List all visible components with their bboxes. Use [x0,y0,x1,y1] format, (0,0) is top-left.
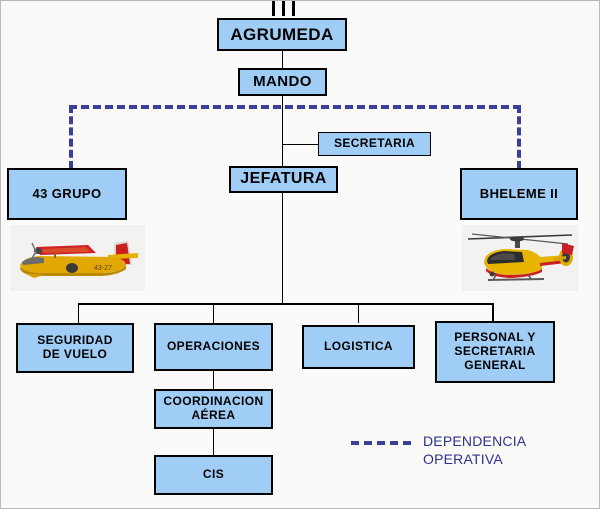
connector-operaciones-coordinacion [213,371,214,389]
node-agrumeda-label: AGRUMEDA [230,25,333,45]
node-cis-label: CIS [203,468,224,482]
node-bheleme-ii-label: BHELEME II [480,187,558,202]
helicopter-illustration [462,225,578,291]
connector-coordinacion-cis [213,429,214,455]
node-43-grupo-label: 43 GRUPO [33,187,102,202]
antenna-mark-1 [272,1,275,16]
seaplane-illustration: 43-27 [10,225,145,291]
legend-dashed-line-swatch [351,441,411,445]
node-secretaria[interactable]: SECRETARIA [318,132,431,156]
antenna-mark-3 [292,1,295,16]
node-jefatura-label: JEFATURA [240,170,326,188]
node-operaciones-label: OPERACIONES [167,340,260,354]
node-cis[interactable]: CIS [154,455,273,495]
node-jefatura[interactable]: JEFATURA [229,166,338,193]
connector-agrumeda-mando [282,50,283,68]
connector-bus-to-logistica [358,303,359,323]
legend: DEPENDENCIA OPERATIVA [351,433,526,468]
node-seguridad-de-vuelo-label: SEGURIDAD DE VUELO [37,334,113,362]
node-logistica-label: LOGISTICA [324,340,393,354]
node-logistica[interactable]: LOGISTICA [302,325,415,369]
dashed-link-horizontal [69,105,521,109]
node-agrumeda[interactable]: AGRUMEDA [217,18,347,51]
antenna-mark-2 [282,1,285,16]
node-coordinacion-aerea-label: COORDINACION AÉREA [163,395,263,423]
connector-bus-to-personal [492,303,494,323]
legend-label: DEPENDENCIA OPERATIVA [423,433,526,468]
connector-bus-horizontal [78,303,494,305]
node-coordinacion-aerea[interactable]: COORDINACION AÉREA [154,389,273,429]
node-mando[interactable]: MANDO [238,68,327,96]
node-mando-label: MANDO [253,73,312,90]
node-secretaria-label: SECRETARIA [334,137,415,151]
canadair-seaplane-photo: 43-27 [10,225,145,291]
node-43-grupo[interactable]: 43 GRUPO [7,168,127,220]
node-seguridad-de-vuelo[interactable]: SEGURIDAD DE VUELO [16,323,134,373]
connector-jefatura-bus [282,193,283,304]
connector-jefatura-secretaria [282,144,318,145]
connector-bus-to-operaciones [213,303,214,323]
node-personal-y-secretaria-general-label: PERSONAL Y SECRETARIA GENERAL [454,331,536,372]
connector-bus-to-seguridad [78,303,79,323]
node-operaciones[interactable]: OPERACIONES [154,323,273,371]
node-personal-y-secretaria-general[interactable]: PERSONAL Y SECRETARIA GENERAL [435,321,555,383]
dashed-link-to-bheleme [517,105,521,169]
dashed-link-to-43grupo [69,105,73,169]
org-chart-diagram: AGRUMEDA MANDO SECRETARIA JEFATURA 43 GR… [0,0,600,509]
node-bheleme-ii[interactable]: BHELEME II [460,168,578,220]
svg-text:43-27: 43-27 [94,265,112,272]
rescue-helicopter-photo [462,225,578,291]
